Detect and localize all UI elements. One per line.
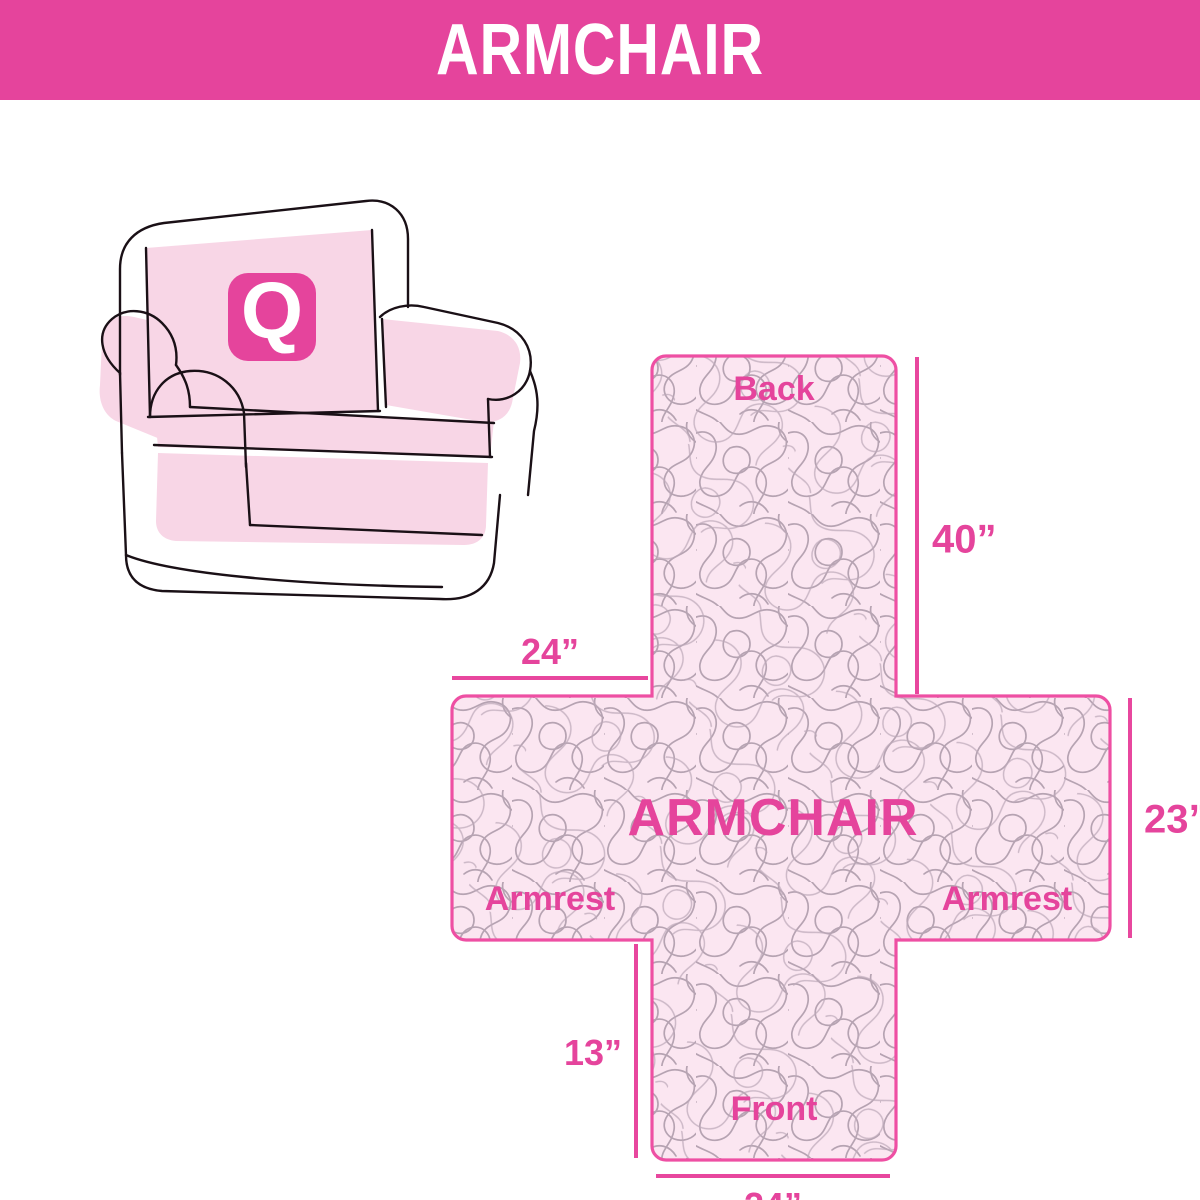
page-title: ARMCHAIR — [436, 14, 764, 86]
panel-label-back: Back — [733, 370, 814, 408]
dimension-value-seat-depth: 23” — [1144, 798, 1200, 842]
header-bar: ARMCHAIR — [0, 0, 1200, 100]
panel-label-armrest-left: Armrest — [485, 880, 615, 918]
dimension-value-front-width: 24” — [744, 1185, 802, 1200]
dimension-value-back-height: 40” — [932, 518, 997, 562]
panel-label-front: Front — [731, 1090, 818, 1128]
content-stage: Q — [0, 100, 1200, 1200]
q-logo-badge: Q — [228, 266, 316, 361]
cover-layout-svg: 40” 24” 23” 13” 24” Back Armrest Armrest… — [420, 330, 1200, 1200]
dimension-value-armrest-width: 24” — [521, 631, 579, 672]
cover-shape — [420, 330, 1200, 1200]
cover-layout-diagram: 40” 24” 23” 13” 24” Back Armrest Armrest… — [420, 330, 1200, 1200]
diagram-center-label: ARMCHAIR — [627, 789, 918, 847]
dimension-value-front-drop: 13” — [564, 1032, 622, 1073]
panel-label-armrest-right: Armrest — [942, 880, 1072, 918]
q-logo-letter: Q — [241, 266, 303, 355]
